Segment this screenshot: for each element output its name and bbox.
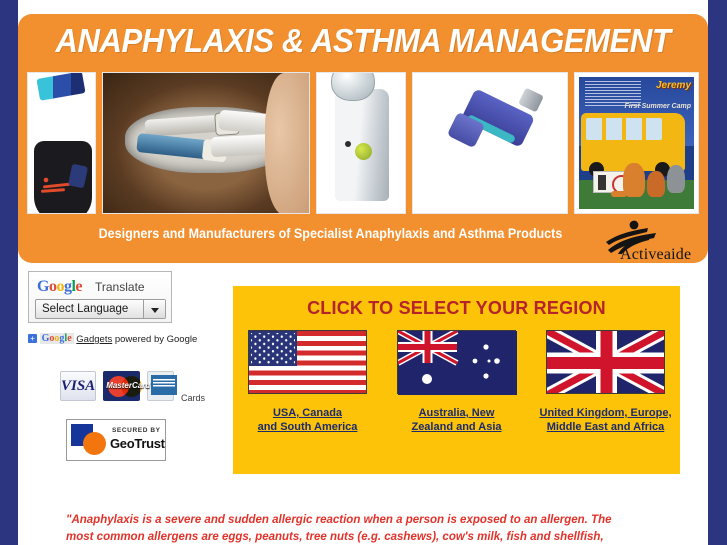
site-header: ANAPHYLAXIS & ASTHMA MANAGEMENT xyxy=(18,14,708,263)
region-selector-panel: CLICK TO SELECT YOUR REGION xyxy=(233,286,680,474)
bag-graphic xyxy=(103,73,309,213)
product-photo-strip: Jeremy First Summer Camp xyxy=(27,72,699,214)
region-link-usa[interactable]: USA, Canada and South America xyxy=(258,406,358,434)
nebuliser-power-button-icon xyxy=(355,143,372,160)
region-link-usa-line1: USA, Canada xyxy=(273,407,342,419)
us-flag-stars xyxy=(251,333,295,364)
geotrust-seal[interactable]: SECURED BY GeoTrust xyxy=(66,419,166,461)
anaphylaxis-definition-quote: "Anaphylaxis is a severe and sudden alle… xyxy=(66,512,666,545)
mastercard-card-icon: MasterCard xyxy=(103,371,140,401)
google-translate-widget[interactable]: Google Translate Select Language xyxy=(28,271,172,323)
hand-graphic xyxy=(265,73,310,214)
site-tagline: Designers and Manufacturers of Specialis… xyxy=(42,226,684,241)
plus-icon[interactable]: + xyxy=(28,334,37,343)
left-border xyxy=(0,0,18,545)
geotrust-circle-icon xyxy=(83,432,106,455)
cards-label: Cards xyxy=(181,393,205,406)
uk-flag-icon[interactable] xyxy=(546,330,665,394)
google-logo-letter: o xyxy=(56,278,64,295)
region-link-uk-line1: United Kingdom, Europe, xyxy=(540,407,672,419)
region-flag-cell-australia[interactable] xyxy=(382,330,531,400)
region-selector-title: CLICK TO SELECT YOUR REGION xyxy=(233,298,680,319)
au-flag-svg xyxy=(398,331,517,395)
region-links-row: USA, Canada and South America Australia,… xyxy=(233,406,680,435)
pouch-graphic xyxy=(34,141,92,214)
nebuliser-graphic xyxy=(335,89,389,201)
region-flags-row xyxy=(233,330,680,400)
region-link-cell-usa: USA, Canada and South America xyxy=(233,406,382,435)
book-graphic: Jeremy First Summer Camp xyxy=(579,77,694,209)
bus-windows xyxy=(586,118,662,140)
region-link-cell-australia: Australia, New Zealand and Asia xyxy=(382,406,531,435)
google-logo: Google xyxy=(37,278,82,296)
page-title: ANAPHYLAXIS & ASTHMA MANAGEMENT xyxy=(39,22,688,60)
geotrust-secured-label: SECURED BY xyxy=(112,427,161,434)
us-flag-canton xyxy=(249,331,297,366)
nebuliser-indicator-icon xyxy=(345,141,351,147)
google-logo-letter: e xyxy=(75,278,82,295)
gadgets-powered-text: powered by Google xyxy=(115,334,197,345)
right-border xyxy=(708,0,727,545)
google-logo-letter: G xyxy=(37,278,49,295)
book-subtitle-text: First Summer Camp xyxy=(624,103,691,110)
region-flag-cell-uk[interactable] xyxy=(531,330,680,400)
google-gadgets-logo: Google xyxy=(40,333,74,344)
google-gadgets-bar[interactable]: + Google Gadgets powered by Google xyxy=(28,333,203,346)
quote-line-1: "Anaphylaxis is a severe and sudden alle… xyxy=(66,512,666,529)
gadgets-link[interactable]: Gadgets xyxy=(76,334,112,345)
translate-label: Translate xyxy=(95,280,145,294)
inhaler-canister-graphic xyxy=(518,88,544,113)
us-flag-icon[interactable] xyxy=(248,330,367,394)
visa-card-icon: VISA xyxy=(60,371,96,401)
region-link-usa-line2: and South America xyxy=(258,421,358,433)
accepted-payment-cards: VISA MasterCard Cards xyxy=(60,366,205,406)
geotrust-name-trust: Trust xyxy=(134,436,164,451)
inhaler-photo xyxy=(412,72,568,214)
language-select[interactable]: Select Language xyxy=(35,299,166,319)
region-flag-cell-usa[interactable] xyxy=(233,330,382,400)
pouch-logo-icon xyxy=(41,177,75,193)
pouch-photo xyxy=(27,72,96,214)
activeaide-logo-text: Activeaide xyxy=(620,246,691,264)
geotrust-name-geo: Geo xyxy=(110,436,134,451)
region-link-australia-line2: Zealand and Asia xyxy=(411,421,501,433)
nebuliser-cup-graphic xyxy=(331,72,375,101)
uk-flag-svg xyxy=(547,331,665,394)
activeaide-logo: Activeaide xyxy=(598,220,694,266)
region-link-australia[interactable]: Australia, New Zealand and Asia xyxy=(411,406,501,434)
page-root: ANAPHYLAXIS & ASTHMA MANAGEMENT xyxy=(0,0,727,545)
book-title-text: Jeremy xyxy=(656,81,691,91)
quote-line-2: most common allergens are eggs, peanuts,… xyxy=(66,529,666,545)
region-link-cell-uk: United Kingdom, Europe, Middle East and … xyxy=(531,406,680,435)
au-flag-icon[interactable] xyxy=(397,330,516,394)
bear-character xyxy=(647,171,665,197)
mastercard-label: MasterCard xyxy=(103,381,153,390)
chevron-down-icon[interactable] xyxy=(143,300,165,318)
region-link-uk[interactable]: United Kingdom, Europe, Middle East and … xyxy=(540,406,672,434)
medication-bag-photo xyxy=(102,72,310,214)
region-link-australia-line1: Australia, New xyxy=(419,407,495,419)
pouch-inhaler-graphic xyxy=(36,72,85,101)
kangaroo-character xyxy=(623,163,645,197)
book-cover-photo: Jeremy First Summer Camp xyxy=(574,72,699,214)
koala-character xyxy=(667,165,685,193)
nebuliser-photo xyxy=(316,72,407,214)
geotrust-name-label: GeoTrust xyxy=(110,436,165,451)
language-select-value: Select Language xyxy=(42,303,128,315)
region-link-uk-line2: Middle East and Africa xyxy=(547,421,665,433)
amex-blue-box xyxy=(151,375,177,395)
